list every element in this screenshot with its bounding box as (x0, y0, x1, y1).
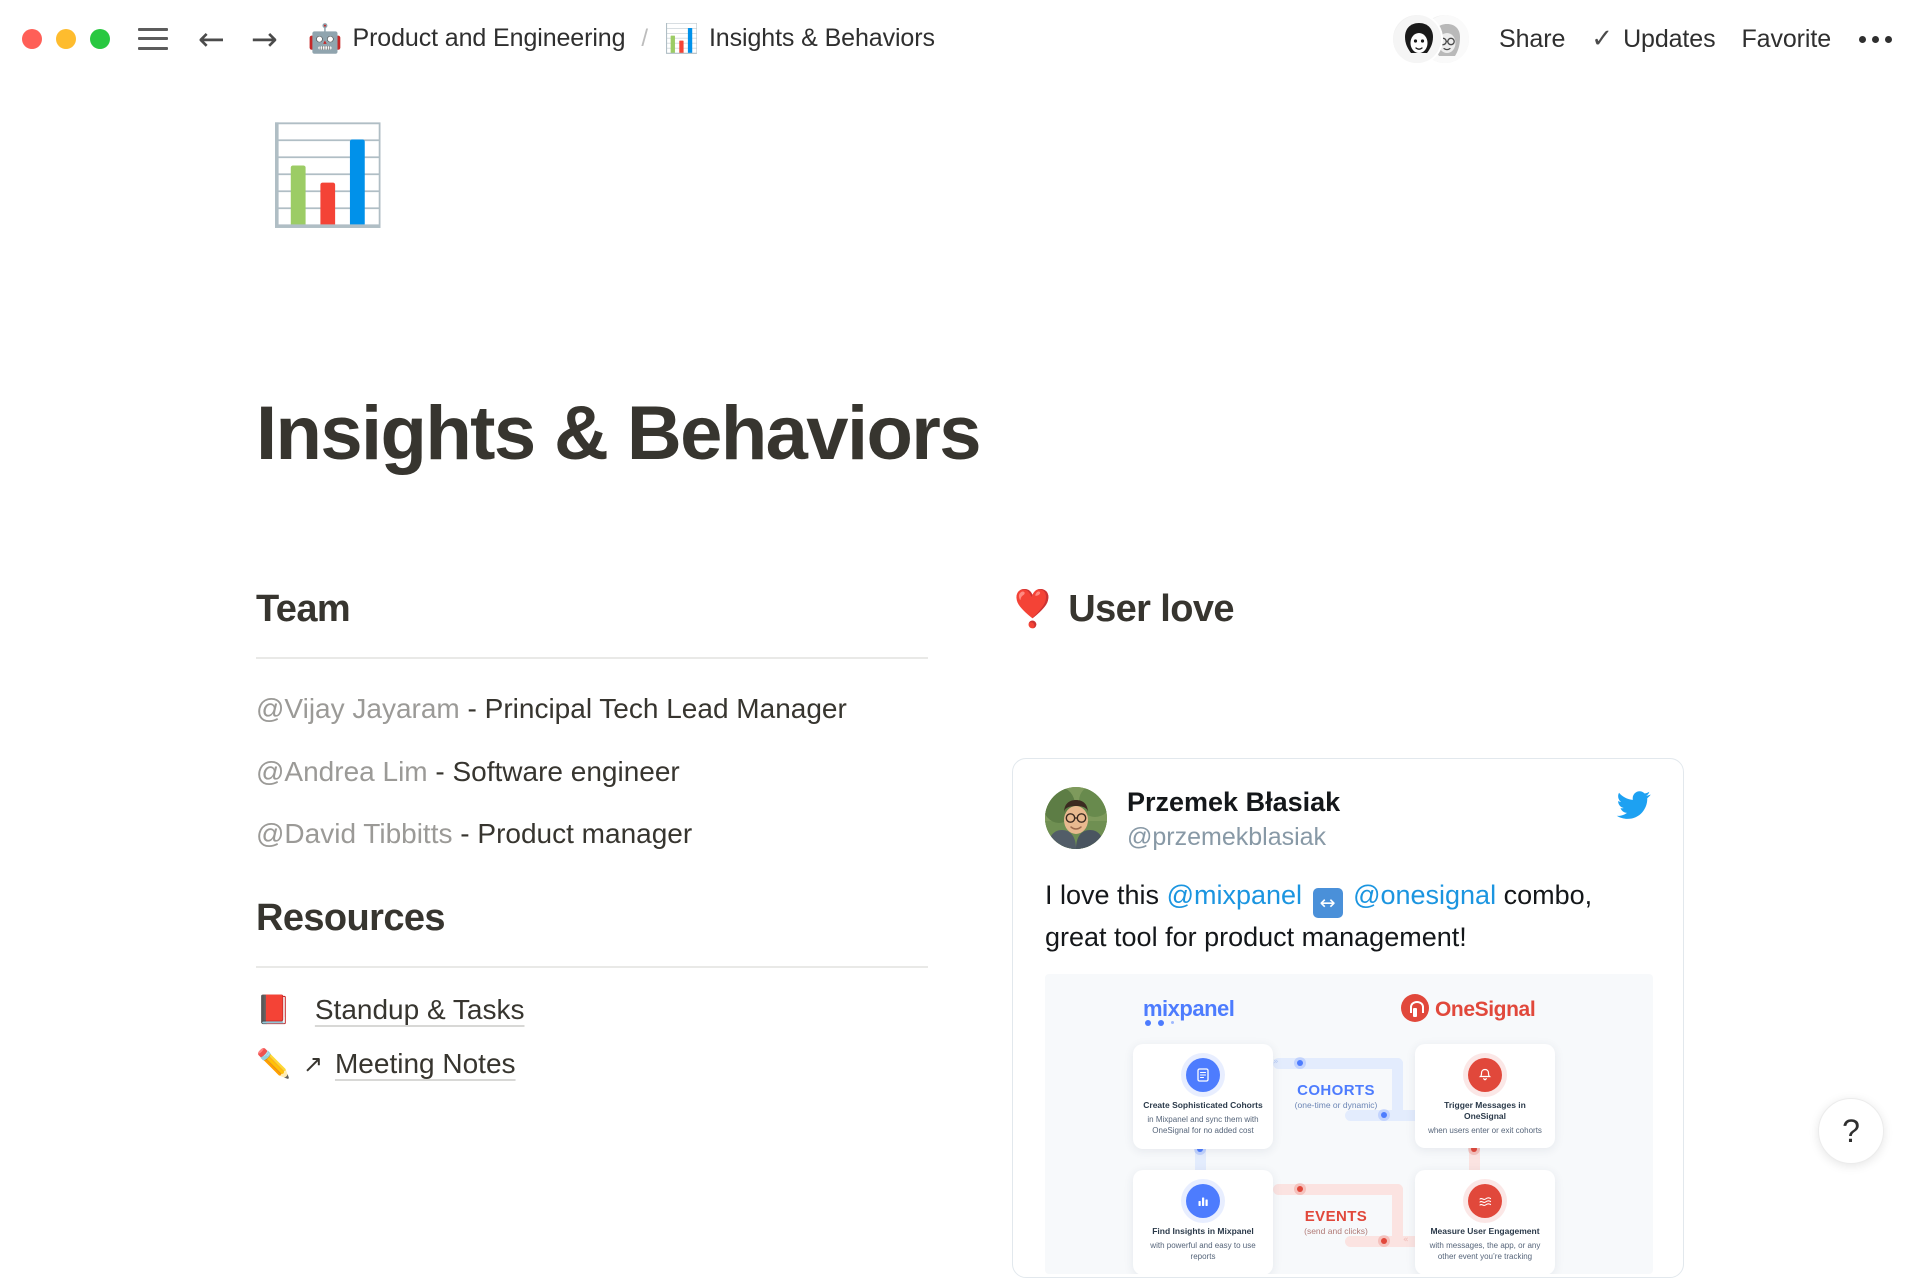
flow-node (1381, 1238, 1387, 1244)
list-item: @Andrea Lim - Software engineer (256, 752, 876, 793)
window-controls (0, 29, 110, 49)
flow-label-events: EVENTS (send and clicks) (1273, 1208, 1399, 1236)
chevron-left-icon: « (1403, 1235, 1409, 1245)
avatar (1045, 787, 1107, 849)
notebook-icon: 📕 (256, 996, 291, 1024)
list-item: @Vijay Jayaram - Principal Tech Lead Man… (256, 689, 876, 730)
right-column: ❣️ User love (1010, 588, 1710, 631)
mixpanel-logo: mixpanel (1143, 996, 1234, 1022)
card-title: Measure User Engagement (1425, 1226, 1545, 1237)
tweet-author-handle[interactable]: @przemekblasiak (1127, 821, 1340, 854)
tweet-embed-card[interactable]: Przemek Błasiak @przemekblasiak I love t… (1012, 758, 1684, 1278)
bar-chart-icon (1186, 1184, 1220, 1218)
breadcrumb-parent[interactable]: Product and Engineering (353, 24, 626, 53)
resource-link-label[interactable]: Standup & Tasks (315, 994, 525, 1026)
team-heading-label: Team (256, 588, 350, 631)
onesignal-mark-icon (1401, 994, 1429, 1022)
tweet-text: I love this @mixpanel ↔ @onesignal combo… (1045, 876, 1651, 956)
topbar-actions: Share ✓ Updates Favorite (1391, 0, 1894, 78)
user-love-heading-label: User love (1068, 588, 1234, 631)
flow-node (1381, 1112, 1387, 1118)
updates-button[interactable]: ✓ Updates (1591, 24, 1715, 54)
close-button[interactable] (22, 29, 42, 49)
wave-chart-icon (1468, 1184, 1502, 1218)
resources-heading: Resources (256, 897, 926, 940)
mixpanel-dots-icon (1145, 1020, 1174, 1026)
page-icon[interactable]: 📊 (268, 128, 388, 224)
question-mark-icon: ? (1842, 1113, 1860, 1150)
card-desc: with powerful and easy to use reports (1143, 1240, 1263, 1263)
diagram-card-create-cohorts: Create Sophisticated Cohorts in Mixpanel… (1133, 1044, 1273, 1149)
updates-label: Updates (1623, 25, 1715, 54)
team-member-role: Software engineer (453, 756, 680, 787)
back-arrow-icon[interactable]: ← (198, 23, 225, 55)
list-item: @David Tibbitts - Product manager (256, 814, 876, 855)
team-member-dash: - (460, 693, 485, 724)
share-button[interactable]: Share (1499, 25, 1565, 54)
tweet-author-block: Przemek Błasiak @przemekblasiak (1127, 787, 1340, 854)
left-right-arrow-icon: ↔ (1313, 888, 1343, 918)
tweet-media-image[interactable]: mixpanel OneSignal » (1045, 974, 1653, 1274)
resources-divider (256, 966, 928, 968)
team-member-dash: - (453, 818, 478, 849)
team-member-mention[interactable]: @David Tibbitts (256, 818, 453, 849)
flow-label-cohorts: COHORTS (one-time or dynamic) (1273, 1082, 1399, 1110)
resources-heading-label: Resources (256, 897, 445, 940)
resources-list: 📕 Standup & Tasks ✏️ ↗ Meeting Notes (256, 994, 926, 1080)
tweet-author-name[interactable]: Przemek Błasiak (1127, 787, 1340, 818)
tweet-header: Przemek Błasiak @przemekblasiak (1045, 787, 1651, 854)
tweet-mention-mixpanel[interactable]: @mixpanel (1167, 880, 1302, 910)
list-item[interactable]: 📕 Standup & Tasks (256, 994, 926, 1026)
card-desc: when users enter or exit cohorts (1425, 1125, 1545, 1136)
team-member-mention[interactable]: @Andrea Lim (256, 756, 428, 787)
bell-icon (1468, 1058, 1502, 1092)
more-options-icon[interactable] (1857, 28, 1894, 51)
external-link-icon: ↗ (303, 1050, 323, 1078)
team-member-dash: - (428, 756, 453, 787)
flow-sublabel-text: (one-time or dynamic) (1273, 1100, 1399, 1110)
document-icon (1186, 1058, 1220, 1092)
forward-arrow-icon[interactable]: → (251, 23, 278, 55)
list-item[interactable]: ✏️ ↗ Meeting Notes (256, 1048, 926, 1080)
collaborator-avatars[interactable] (1391, 11, 1473, 67)
breadcrumb: 🤖 Product and Engineering / 📊 Insights &… (308, 24, 935, 53)
team-divider (256, 657, 928, 659)
onesignal-logo: OneSignal (1435, 998, 1535, 1022)
flow-node (1297, 1186, 1303, 1192)
integration-diagram: mixpanel OneSignal » (1045, 974, 1653, 1274)
hamburger-menu-icon[interactable] (138, 28, 168, 50)
page-title[interactable]: Insights & Behaviors (256, 390, 980, 477)
card-title: Find Insights in Mixpanel (1143, 1226, 1263, 1237)
navigation-arrows: ← → (198, 23, 278, 55)
heart-exclamation-icon: ❣️ (1010, 588, 1054, 630)
breadcrumb-separator: / (641, 25, 648, 53)
card-title: Create Sophisticated Cohorts (1143, 1100, 1263, 1111)
card-desc: in Mixpanel and sync them with OneSignal… (1143, 1114, 1263, 1137)
flow-label-text: EVENTS (1273, 1208, 1399, 1225)
maximize-button[interactable] (90, 29, 110, 49)
help-button[interactable]: ? (1818, 1098, 1884, 1164)
card-title: Trigger Messages in OneSignal (1425, 1100, 1545, 1122)
team-member-role: Product manager (477, 818, 692, 849)
chevron-right-icon: » (1273, 1057, 1279, 1067)
minimize-button[interactable] (56, 29, 76, 49)
flow-label-text: COHORTS (1273, 1082, 1399, 1099)
breadcrumb-current[interactable]: Insights & Behaviors (709, 24, 935, 53)
resource-link-label[interactable]: Meeting Notes (335, 1048, 516, 1080)
twitter-bird-icon[interactable] (1615, 791, 1651, 826)
flow-node (1297, 1060, 1303, 1066)
tweet-mention-onesignal[interactable]: @onesignal (1353, 880, 1496, 910)
favorite-button[interactable]: Favorite (1741, 25, 1831, 54)
card-desc: with messages, the app, or any other eve… (1425, 1240, 1545, 1263)
avatar (1391, 13, 1443, 65)
flow-pipe (1273, 1184, 1403, 1195)
check-icon: ✓ (1591, 24, 1613, 54)
diagram-card-measure-engagement: Measure User Engagement with messages, t… (1415, 1170, 1555, 1274)
flow-sublabel-text: (send and clicks) (1273, 1226, 1399, 1236)
diagram-card-trigger-messages: Trigger Messages in OneSignal when users… (1415, 1044, 1555, 1148)
pencil-icon: ✏️ (256, 1050, 291, 1078)
bar-chart-icon: 📊 (664, 25, 699, 53)
page-content: 📊 Insights & Behaviors Team @Vijay Jayar… (0, 78, 1920, 1200)
team-member-mention[interactable]: @Vijay Jayaram (256, 693, 460, 724)
tweet-text-part1: I love this (1045, 880, 1167, 910)
team-member-role: Principal Tech Lead Manager (485, 693, 847, 724)
robot-icon: 🤖 (308, 25, 343, 53)
window-titlebar: ← → 🤖 Product and Engineering / 📊 Insigh… (0, 0, 1920, 78)
diagram-card-find-insights: Find Insights in Mixpanel with powerful … (1133, 1170, 1273, 1274)
left-column: Team @Vijay Jayaram - Principal Tech Lea… (256, 588, 926, 1102)
flow-pipe (1273, 1058, 1403, 1069)
team-heading: Team (256, 588, 926, 631)
team-list: @Vijay Jayaram - Principal Tech Lead Man… (256, 689, 926, 855)
user-love-heading: ❣️ User love (1010, 588, 1710, 631)
